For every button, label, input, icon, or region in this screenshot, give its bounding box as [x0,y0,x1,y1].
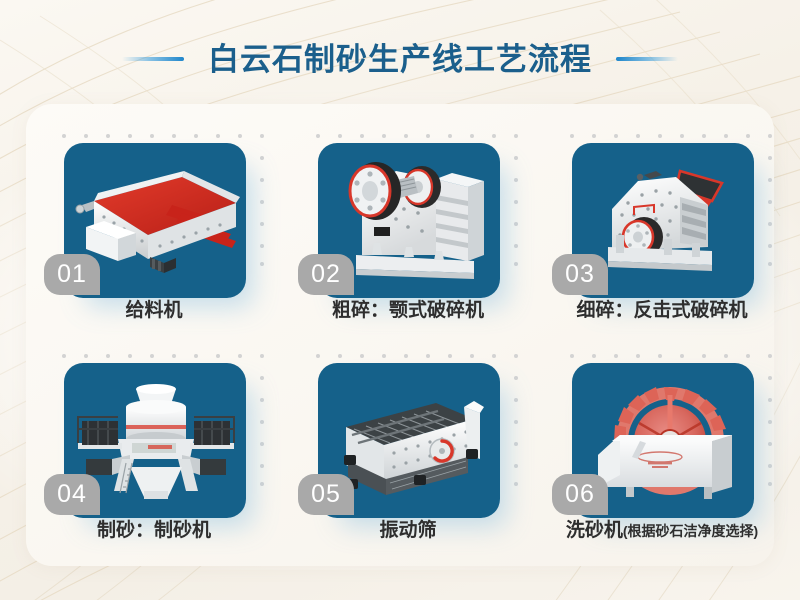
process-flow-grid: 01 给料机 [26,104,774,566]
step-caption-01: 给料机 [40,300,268,323]
process-step-03[interactable]: 03 细碎：反击式破碎机 [548,132,776,344]
process-step-05[interactable]: 05 振动筛 [294,352,522,564]
step-caption-06: 洗砂机(根据砂石洁净度选择) [534,520,790,543]
step-number-badge-03: 03 [552,254,608,295]
step-number-02: 02 [311,262,341,287]
step-note-06: (根据砂石洁净度选择) [623,523,758,539]
step-label-05: 振动筛 [379,520,436,541]
process-step-06[interactable]: 06 洗砂机(根据砂石洁净度选择) [548,352,776,564]
step-label-02: 粗碎：颚式破碎机 [332,300,484,321]
step-label-03: 细碎：反击式破碎机 [576,300,747,321]
decorative-dash-left-icon [122,57,184,61]
step-number-03: 03 [565,262,595,287]
step-caption-05: 振动筛 [294,520,522,543]
step-number-badge-01: 01 [44,254,100,295]
step-caption-02: 粗碎：颚式破碎机 [294,300,522,323]
step-number-badge-02: 02 [298,254,354,295]
step-caption-04: 制砂：制砂机 [40,520,268,543]
process-step-01[interactable]: 01 给料机 [40,132,268,344]
step-label-04: 制砂：制砂机 [97,520,211,541]
step-number-badge-04: 04 [44,474,100,515]
step-label-01: 给料机 [125,300,182,321]
step-number-05: 05 [311,482,341,507]
process-step-04[interactable]: 04 制砂：制砂机 [40,352,268,564]
step-caption-03: 细碎：反击式破碎机 [548,300,776,323]
step-number-06: 06 [565,482,595,507]
page-header: 白云石制砂生产线工艺流程 [0,30,800,88]
process-step-02[interactable]: 02 粗碎：颚式破碎机 [294,132,522,344]
step-number-badge-05: 05 [298,474,354,515]
page-title: 白云石制砂生产线工艺流程 [208,44,592,75]
step-number-01: 01 [57,262,87,287]
step-number-04: 04 [57,482,87,507]
decorative-dash-right-icon [616,57,678,61]
step-number-badge-06: 06 [552,474,608,515]
step-label-06: 洗砂机 [566,520,623,541]
